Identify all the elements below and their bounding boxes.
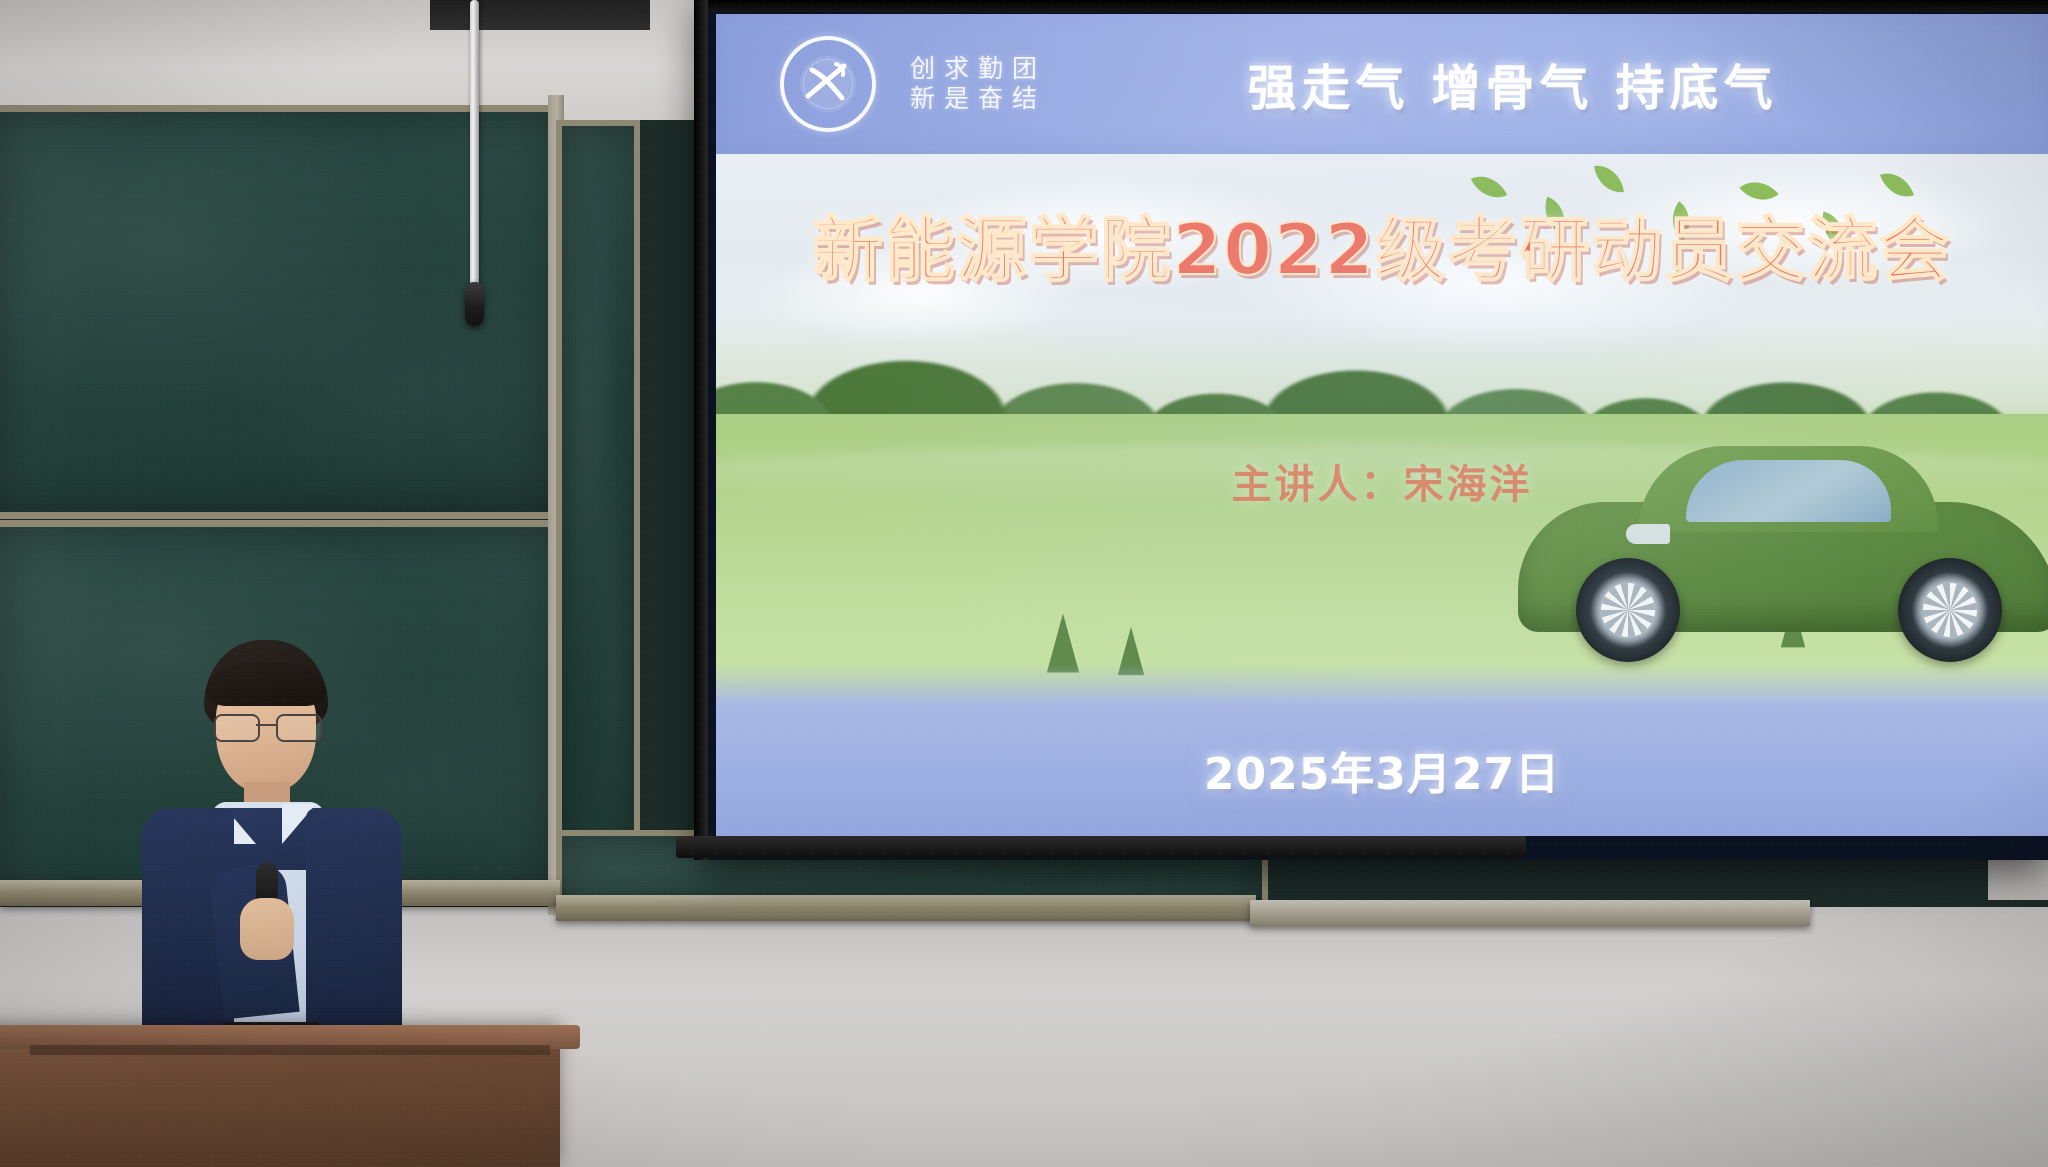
motto-column: 勤 奋 xyxy=(978,55,1003,113)
motto-char: 结 xyxy=(1012,85,1037,113)
motto-column: 团 结 xyxy=(1012,55,1037,113)
motto-column: 求 是 xyxy=(944,55,969,113)
slide-date: 2025年3月27日 xyxy=(1204,738,1560,802)
car-wheel xyxy=(1898,558,2002,662)
chalk-tray-center xyxy=(556,895,1256,921)
slide-footer-fade xyxy=(716,664,2048,704)
podium-edge xyxy=(30,1045,550,1055)
ceiling-microphone-boom xyxy=(470,0,479,290)
motto-column: 创 新 xyxy=(910,55,935,113)
speaker-jacket-right xyxy=(306,808,402,1058)
motto-char: 创 xyxy=(910,55,935,83)
car-mirror xyxy=(1626,524,1670,544)
motto-char: 奋 xyxy=(978,85,1003,113)
motto-char: 是 xyxy=(944,85,969,113)
glasses-bridge xyxy=(256,724,276,726)
slide-footer-band: 2025年3月27日 xyxy=(716,704,2048,836)
slide-presenter: 主讲人：宋海洋 xyxy=(716,452,2048,510)
ceiling-microphone-capsule xyxy=(465,282,484,326)
slide-title: 新能源学院2022级考研动员交流会 xyxy=(716,194,2048,295)
glasses-lens-right xyxy=(276,714,322,742)
motto-char: 团 xyxy=(1012,55,1037,83)
projection-screen-left-edge xyxy=(694,0,708,860)
slide-header-band: 团 结 勤 奋 求 是 创 新 强走气 增骨气 持底气 xyxy=(716,14,2048,154)
presentation-slide: 团 结 勤 奋 求 是 创 新 强走气 增骨气 持底气 xyxy=(716,14,2048,836)
chalkboard-center-strip xyxy=(556,120,640,912)
speaker-hair-fringe xyxy=(206,662,326,706)
speaker-hand xyxy=(240,898,294,960)
motto-char: 求 xyxy=(944,55,969,83)
car-wheel xyxy=(1576,558,1680,662)
university-motto-block: 团 结 勤 奋 求 是 创 新 xyxy=(910,55,1037,113)
projection-screen-top-bar xyxy=(700,0,2048,12)
projection-screen-roller xyxy=(676,836,1526,858)
classroom-photo-scene: 团 结 勤 奋 求 是 创 新 强走气 增骨气 持底气 xyxy=(0,0,2048,1167)
motto-char: 新 xyxy=(910,85,935,113)
ceiling-fixture xyxy=(430,0,650,30)
speaker-person xyxy=(120,640,420,1060)
chalk-tray-right xyxy=(1250,900,1810,926)
glasses-lens-left xyxy=(214,714,260,742)
motto-char: 勤 xyxy=(978,55,1003,83)
university-crest-icon xyxy=(780,36,876,132)
speaker-glasses-icon xyxy=(212,714,322,738)
slide-slogan: 强走气 增骨气 持底气 xyxy=(1037,49,2048,120)
